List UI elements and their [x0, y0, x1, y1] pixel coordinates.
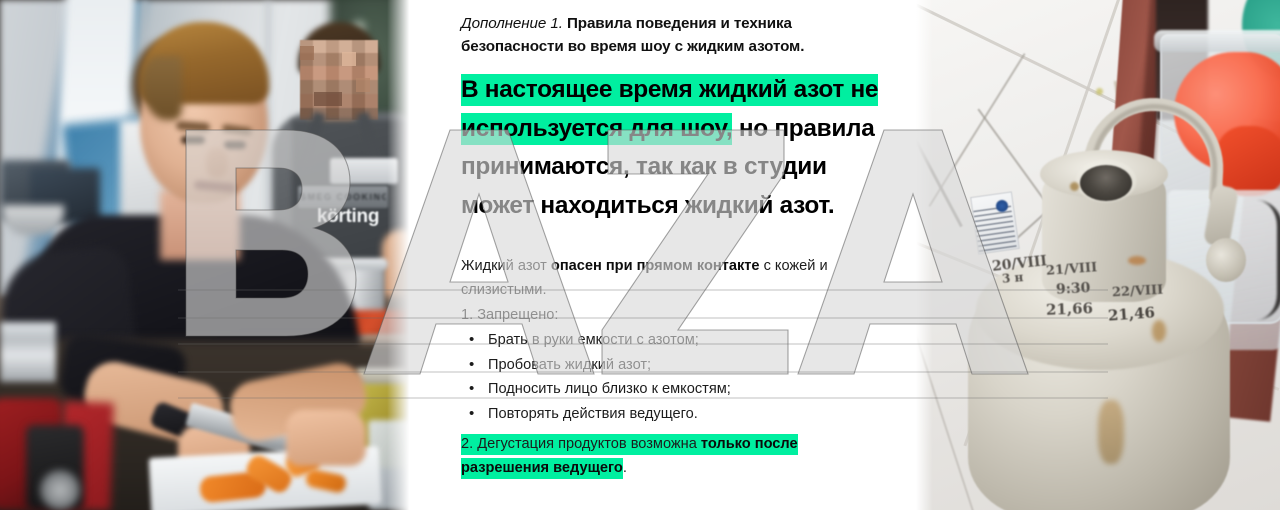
photo-edge-fade: [916, 0, 934, 510]
rust-stain: [1152, 320, 1166, 342]
apron-bar-text: SMEG COOKING: [300, 188, 386, 206]
sticker-blue-seal: [996, 200, 1008, 212]
pixel-block: [300, 46, 314, 60]
document-hero-statement: В настоящее время жидкий азот не использ…: [461, 71, 882, 225]
section-2-paragraph: 2. Дегустация продуктов возможна только …: [461, 433, 882, 480]
handwriting-value-1: 21,66: [1046, 299, 1094, 319]
document-content: Жидкий азот опасен при прямом контакте с…: [461, 255, 882, 480]
apron-brand-text: körting: [298, 206, 398, 228]
dewar-photo-panel: 20/VIII 3 н 21/VIII 9:30 21,66 22/VIII 2…: [916, 0, 1280, 510]
handwriting-value-2: 21,46: [1107, 303, 1155, 324]
section-2-highlighted: 2. Дегустация продуктов возможна только …: [461, 434, 798, 479]
rust-stain: [1128, 256, 1146, 265]
section-2-before: 2. Дегустация продуктов возможна: [461, 436, 701, 452]
document-panel: Дополнение 1. Правила поведения и техник…: [413, 0, 916, 510]
chef-eye: [224, 141, 246, 149]
stacked-plates: [0, 322, 56, 382]
document-heading: Дополнение 1. Правила поведения и техник…: [461, 12, 882, 58]
document-body: Дополнение 1. Правила поведения и техник…: [413, 0, 916, 481]
dewar-fill-opening: [1080, 165, 1132, 201]
intro-bold: опасен при прямом контакте: [551, 258, 760, 274]
kitchen-photo-panel: SMEG COOKING körting: [0, 0, 413, 510]
media-composite: SMEG COOKING körting: [0, 0, 1280, 510]
pixel-block: [356, 78, 370, 92]
chef-nose: [206, 148, 228, 178]
rust-stain: [1070, 182, 1079, 191]
pixel-block: [342, 52, 356, 66]
list-item: Подносить лицо близко к емкостям;: [461, 377, 882, 402]
mixer-head: [40, 470, 80, 510]
chef-eye: [181, 136, 205, 144]
list-item: Пробовать жидкий азот;: [461, 353, 882, 378]
section-1-label: 1. Запрещено:: [461, 304, 882, 328]
intro-before: Жидкий азот: [461, 258, 551, 274]
black-cable: [1256, 200, 1280, 320]
floor-speck: [1096, 88, 1103, 95]
intro-paragraph: Жидкий азот опасен при прямом контакте с…: [461, 255, 882, 302]
chef-hand: [286, 410, 366, 466]
heading-lead: Дополнение 1.: [461, 15, 563, 32]
list-item: Брать в руки емкости с азотом;: [461, 328, 882, 353]
handwriting-time: 9:30: [1056, 280, 1091, 298]
rust-streak: [1098, 400, 1124, 464]
photo-edge-fade: [387, 0, 413, 510]
dewar-side-fitting: [1206, 238, 1246, 282]
bin-rim: [1154, 30, 1280, 52]
prohibited-actions-list: Брать в руки емкости с азотом; Пробовать…: [461, 328, 882, 426]
handwriting-date-3: 22/VIII: [1112, 283, 1164, 301]
handwriting-hours: 3 н: [1001, 270, 1023, 286]
section-2-after: .: [623, 460, 627, 476]
sticker-text-lines: [973, 206, 1016, 253]
list-item: Повторять действия ведущего.: [461, 402, 882, 427]
pixel-block: [314, 92, 342, 106]
